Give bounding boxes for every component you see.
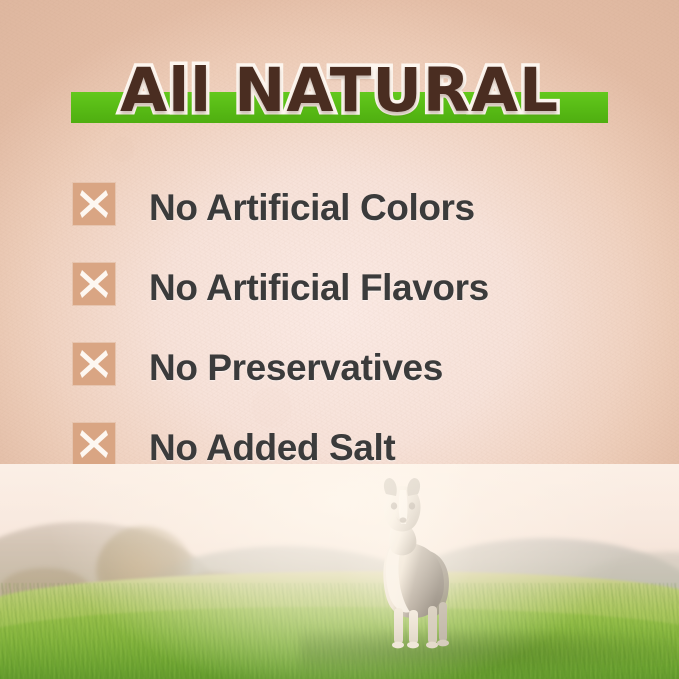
product-claims-poster: All NATURAL No Artificial Colors No Arti…: [0, 0, 679, 679]
claim-label: No Artificial Colors: [149, 168, 475, 248]
list-item: No Preservatives: [0, 328, 679, 408]
headline-banner: All NATURAL: [0, 52, 679, 130]
dog-photo-subject: [352, 476, 456, 652]
x-mark-icon: [72, 422, 116, 466]
claim-label: No Preservatives: [149, 328, 443, 408]
claim-label: No Artificial Flavors: [149, 248, 489, 328]
lifestyle-photo: [0, 464, 679, 679]
x-mark-icon: [72, 262, 116, 306]
x-mark-icon: [72, 342, 116, 386]
list-item: No Artificial Flavors: [0, 248, 679, 328]
x-mark-icon: [72, 182, 116, 226]
page-title: All NATURAL: [0, 52, 679, 130]
list-item: No Artificial Colors: [0, 168, 679, 248]
claims-list: No Artificial Colors No Artificial Flavo…: [0, 168, 679, 488]
